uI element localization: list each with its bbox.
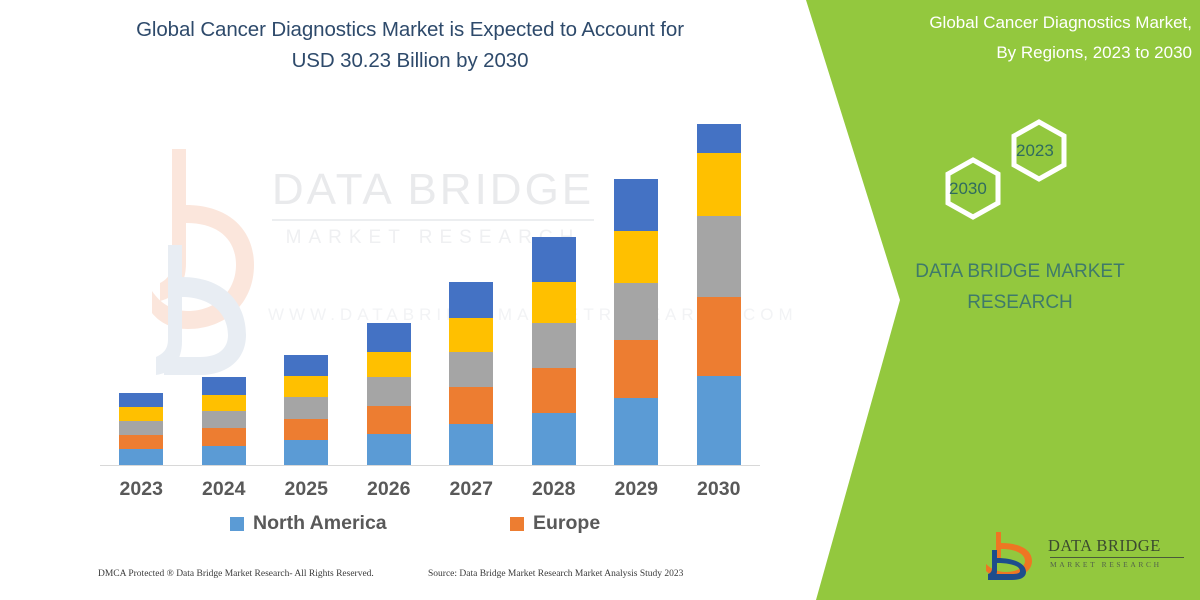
bar-segment-series-5 xyxy=(697,124,741,152)
bar-segment-series-4 xyxy=(449,318,493,352)
bar-segment-north-america xyxy=(367,434,411,465)
bar-segment-series-5 xyxy=(119,393,163,407)
bar-segment-series-3 xyxy=(119,421,163,435)
x-axis-line xyxy=(100,465,760,466)
brand-name-line1: DATA BRIDGE MARKET xyxy=(840,256,1200,287)
stacked-bar xyxy=(367,323,411,465)
x-axis-labels: 20232024202520262027202820292030 xyxy=(100,478,760,504)
stacked-bar xyxy=(449,282,493,465)
bar-column-2023[interactable] xyxy=(119,393,163,465)
right-panel-content: Global Cancer Diagnostics Market, By Reg… xyxy=(840,0,1200,600)
left-chart-panel: Global Cancer Diagnostics Market is Expe… xyxy=(0,0,830,600)
bar-segment-series-3 xyxy=(202,411,246,428)
bar-segment-north-america xyxy=(697,376,741,465)
right-panel-title-line1: Global Cancer Diagnostics Market, xyxy=(840,8,1192,38)
stacked-bar xyxy=(614,179,658,465)
bar-segment-north-america xyxy=(284,440,328,465)
x-axis-label-2025: 2025 xyxy=(266,478,346,501)
bar-segment-north-america xyxy=(202,446,246,465)
bar-segment-series-3 xyxy=(614,283,658,339)
infographic-page: Global Cancer Diagnostics Market is Expe… xyxy=(0,0,1200,600)
dbmr-logo-rule xyxy=(1050,557,1184,558)
x-axis-label-2029: 2029 xyxy=(596,478,676,501)
bar-segment-north-america xyxy=(119,449,163,465)
bar-segment-north-america xyxy=(449,424,493,465)
right-panel-title-line2: By Regions, 2023 to 2030 xyxy=(840,38,1192,68)
hexagon-2023-label: 2023 xyxy=(1016,141,1054,161)
legend-swatch-icon xyxy=(510,517,524,531)
bar-segment-europe xyxy=(697,297,741,376)
page-title: Global Cancer Diagnostics Market is Expe… xyxy=(60,14,760,76)
stacked-bar xyxy=(202,377,246,465)
stacked-bar xyxy=(284,355,328,465)
bar-column-2030[interactable] xyxy=(697,124,741,465)
bar-segment-europe xyxy=(119,435,163,449)
bar-segment-series-5 xyxy=(284,355,328,377)
dbmr-logo-sub-text: MARKET RESEARCH xyxy=(1050,560,1162,569)
bar-segment-series-3 xyxy=(449,352,493,388)
bar-segment-north-america xyxy=(614,398,658,465)
bar-segment-series-3 xyxy=(697,216,741,297)
chart-legend: North AmericaEurope xyxy=(100,512,760,542)
hexagon-badges: 2030 2023 xyxy=(918,108,1178,228)
x-axis-label-2024: 2024 xyxy=(184,478,264,501)
bar-segment-series-5 xyxy=(532,237,576,282)
x-axis-label-2027: 2027 xyxy=(431,478,511,501)
footer-dmca-notice: DMCA Protected ® Data Bridge Market Rese… xyxy=(98,569,374,579)
dbmr-logo-mark-icon xyxy=(982,530,1044,580)
legend-item-europe[interactable]: Europe xyxy=(510,512,600,535)
legend-swatch-icon xyxy=(230,517,244,531)
dbmr-logo-main-text: DATA BRIDGE xyxy=(1048,536,1161,556)
bar-column-2024[interactable] xyxy=(202,377,246,465)
bar-column-2025[interactable] xyxy=(284,355,328,465)
stacked-bar xyxy=(697,124,741,465)
page-title-line2: USD 30.23 Billion by 2030 xyxy=(60,45,760,76)
hexagon-2030-label: 2030 xyxy=(949,179,987,199)
footer-source-note: Source: Data Bridge Market Research Mark… xyxy=(428,569,683,579)
bar-column-2029[interactable] xyxy=(614,179,658,465)
right-panel-title: Global Cancer Diagnostics Market, By Reg… xyxy=(840,8,1192,68)
bar-segment-europe xyxy=(202,428,246,445)
bar-segment-series-4 xyxy=(367,352,411,378)
dbmr-logo: DATA BRIDGE MARKET RESEARCH xyxy=(982,530,1197,582)
x-axis-label-2030: 2030 xyxy=(679,478,759,501)
bar-segment-series-3 xyxy=(284,397,328,419)
bar-segment-series-4 xyxy=(532,282,576,323)
bar-segment-series-4 xyxy=(202,395,246,411)
stacked-bar xyxy=(532,237,576,465)
legend-item-north-america[interactable]: North America xyxy=(230,512,387,535)
brand-name-line2: RESEARCH xyxy=(840,287,1200,318)
stacked-bar xyxy=(119,393,163,465)
bar-segment-series-3 xyxy=(367,377,411,405)
x-axis-label-2028: 2028 xyxy=(514,478,594,501)
x-axis-label-2026: 2026 xyxy=(349,478,429,501)
bar-column-2026[interactable] xyxy=(367,323,411,465)
page-title-line1: Global Cancer Diagnostics Market is Expe… xyxy=(60,14,760,45)
bar-segment-north-america xyxy=(532,413,576,465)
legend-label: Europe xyxy=(533,512,600,535)
bar-segment-europe xyxy=(367,406,411,434)
bar-segment-series-5 xyxy=(614,179,658,232)
bar-segment-series-4 xyxy=(119,407,163,421)
bar-segment-series-5 xyxy=(202,377,246,394)
bar-segment-europe xyxy=(284,419,328,441)
bar-column-2028[interactable] xyxy=(532,237,576,465)
bar-segment-europe xyxy=(449,387,493,424)
bar-segment-europe xyxy=(614,340,658,398)
x-axis-label-2023: 2023 xyxy=(101,478,181,501)
bar-segment-series-3 xyxy=(532,323,576,367)
bar-segment-series-4 xyxy=(614,231,658,283)
hexagon-outline-icons xyxy=(918,108,1178,228)
bar-segment-series-4 xyxy=(284,376,328,397)
bar-chart-plot xyxy=(100,120,760,466)
bar-segment-series-5 xyxy=(367,323,411,351)
bar-column-2027[interactable] xyxy=(449,282,493,465)
brand-name: DATA BRIDGE MARKET RESEARCH xyxy=(840,256,1200,318)
bar-segment-series-5 xyxy=(449,282,493,318)
bar-segment-series-4 xyxy=(697,153,741,217)
legend-label: North America xyxy=(253,512,387,535)
bar-segment-europe xyxy=(532,368,576,413)
